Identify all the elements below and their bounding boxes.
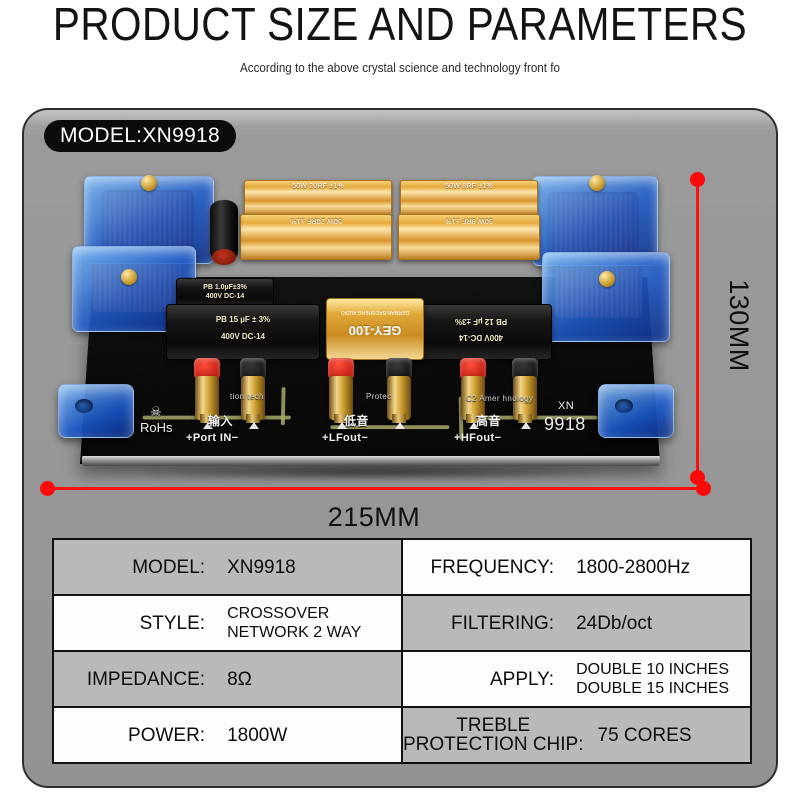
page-title: PRODUCT SIZE AND PARAMETERS [48,0,752,52]
spec-value-line1: CROSSOVER [227,604,401,623]
dim-height-line [696,179,699,477]
spec-cell-treble-protection-chip: TREBLE PROTECTION CHIP: 75 CORES [402,707,751,763]
silk-input-cn: 输入 [208,412,233,429]
table-row: MODEL: XN9918 FREQUENCY: 1800-2800Hz [53,539,751,595]
spec-cell-filtering: FILTERING: 24Db/oct [402,595,751,651]
spec-table: MODEL: XN9918 FREQUENCY: 1800-2800Hz STY… [52,538,752,764]
silk-tech-left: tion tech [230,392,264,401]
silk-lf-en: +LFout− [322,432,368,444]
spec-value-line2: DOUBLE 15 INCHES [576,679,750,698]
resistor-label: 50W 8RF ±1% [401,183,537,190]
model-badge: MODEL:XN9918 [44,120,236,152]
coil-bracket-right-lower [542,252,670,342]
spec-cell-power: POWER: 1800W [53,707,402,763]
pcb-edge [82,456,661,466]
capacitor-mkp-12uf: PB 12 µF ±3% 400V DC-14 [410,304,552,360]
spec-value: 1800-2800Hz [566,557,750,578]
spec-cell-apply: APPLY: DOUBLE 10 INCHES DOUBLE 15 INCHES [402,651,751,707]
table-row: IMPEDANCE: 8Ω APPLY: DOUBLE 10 INCHES DO… [53,651,751,707]
mounting-foot-right [598,384,674,438]
spec-value: 75 CORES [588,725,750,746]
silk-lf-cn: 低音 [344,412,369,429]
capacitor-line1: PB 1.0µF±3% [177,284,273,291]
spec-key: FILTERING: [403,613,566,634]
spec-value: 1800W [217,725,401,746]
capacitor-line2: 400V DC-14 [177,293,273,300]
capacitor-line2: 400V DC-14 [167,332,319,341]
spec-value: DOUBLE 10 INCHES DOUBLE 15 INCHES [566,660,750,698]
dim-width-label: 215MM [24,502,724,533]
rohs-icon: ☠ [150,404,162,420]
silk-board-model-line2: 9918 [544,414,586,435]
spec-key: IMPEDANCE: [54,669,217,690]
capacitor-brand-sub: GERMAN BAOSHENG AUDIO [327,309,423,315]
resistor-20rf-bottom: 50W 20RF ±1% [240,214,392,260]
capacitor-line2: 400V DC-14 [411,333,551,342]
spec-key-line2: PROTECTION CHIP: [403,735,584,754]
product-panel: MODEL:XN9918 [22,108,778,788]
spec-cell-impedance: IMPEDANCE: 8Ω [53,651,402,707]
spec-value-line1: DOUBLE 10 INCHES [576,660,750,679]
capacitor-mkp-15uf: PB 15 µF ± 3% 400V DC-14 [166,304,320,360]
silk-board-model-line1: XN [558,400,574,412]
mounting-foot-left [58,384,134,438]
silk-hf-en: +HFout− [454,432,501,444]
resistor-label: 50W 8RF ±1% [399,217,539,224]
resistor-8rf-top: 50W 8RF ±1% [400,180,538,216]
resistor-label: 50W 20RF ±1% [241,217,391,224]
spec-value: 8Ω [217,669,401,690]
capacitor-gey-100: GEY-100 GERMAN BAOSHENG AUDIO [326,298,424,360]
spec-key: TREBLE PROTECTION CHIP: [403,716,588,754]
dim-height-label: 130MM [723,279,754,372]
spec-key: POWER: [54,725,217,746]
spec-key: APPLY: [403,669,566,690]
silk-hf-cn: 高音 [476,412,501,429]
spec-cell-model: MODEL: XN9918 [53,539,402,595]
silk-protect: Protec [366,392,392,401]
spec-value-line2: NETWORK 2 WAY [227,623,401,642]
rohs-label: RoHs [140,420,173,435]
spec-key: FREQUENCY: [403,557,566,578]
product-photo: 50W 20RF ±1% 50W 20RF ±1% 50W 8RF ±1% 50… [58,168,678,498]
spec-cell-style: STYLE: CROSSOVER NETWORK 2 WAY [53,595,402,651]
resistor-label: 50W 20RF ±1% [245,183,391,190]
spec-value: 24Db/oct [566,613,750,634]
product-spec-page: PRODUCT SIZE AND PARAMETERS According to… [0,0,800,805]
spec-key: STYLE: [54,613,217,634]
resistor-8rf-bottom: 50W 8RF ±1% [398,214,540,260]
capacitor-line1: PB 15 µF ± 3% [167,315,319,324]
silk-tech-right: C2 Amer hnology [466,394,533,403]
dim-width-dot-right [696,481,711,496]
spec-cell-frequency: FREQUENCY: 1800-2800Hz [402,539,751,595]
table-row: STYLE: CROSSOVER NETWORK 2 WAY FILTERING… [53,595,751,651]
spec-value: XN9918 [217,557,401,578]
dim-width-line [47,487,703,490]
board-shadow [104,464,644,480]
table-row: POWER: 1800W TREBLE PROTECTION CHIP: 75 … [53,707,751,763]
page-subtitle: According to the above crystal science a… [28,60,772,76]
electrolytic-capacitor [210,200,238,262]
spec-key-line1: TREBLE [403,716,584,735]
capacitor-brand: GEY-100 [327,323,423,338]
capacitor-line1: PB 12 µF ±3% [411,317,551,326]
spec-value: CROSSOVER NETWORK 2 WAY [217,604,401,642]
model-badge-label: MODEL:XN9918 [60,124,220,148]
resistor-20rf-top: 50W 20RF ±1% [244,180,392,216]
silk-input-en: +Port IN− [186,432,239,444]
spec-key: MODEL: [54,557,217,578]
